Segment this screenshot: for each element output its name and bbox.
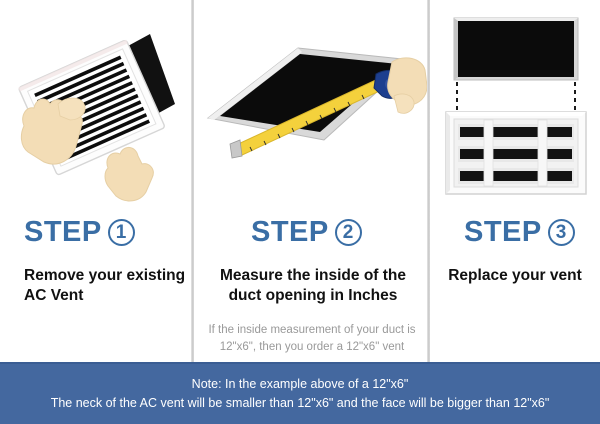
step-1-number-badge: 1	[108, 219, 135, 246]
step-3-illustration	[430, 0, 600, 215]
note-line-1: Note: In the example above of a 12"x6"	[192, 375, 409, 394]
step-2-illustration	[194, 0, 427, 215]
infographic-page: STEP 1 Remove your existing AC Vent	[0, 0, 600, 424]
step-panel-3: STEP 3 Replace your vent	[430, 0, 600, 362]
panel-divider-1	[191, 0, 194, 362]
step-2-number-badge: 2	[335, 219, 362, 246]
step-2-heading: STEP 2	[251, 218, 362, 247]
panel-divider-2	[427, 0, 430, 362]
step-1-caption: Remove your existing AC Vent	[24, 266, 189, 306]
step-1-word: STEP	[24, 218, 102, 247]
note-line-2: The neck of the AC vent will be smaller …	[51, 394, 550, 413]
step-3-caption: Replace your vent	[430, 266, 600, 286]
step-2-caption: Measure the inside of the duct opening i…	[202, 266, 424, 306]
step-1-illustration	[0, 0, 191, 215]
step-3-heading: STEP 3	[464, 218, 575, 247]
step-panel-1: STEP 1 Remove your existing AC Vent	[0, 0, 191, 362]
step-3-word: STEP	[464, 218, 542, 247]
step-1-heading: STEP 1	[24, 218, 135, 247]
step-2-subnote: If the inside measurement of your duct i…	[198, 322, 426, 355]
step-panel-2: STEP 2 Measure the inside of the duct op…	[194, 0, 427, 362]
note-banner: Note: In the example above of a 12"x6" T…	[0, 362, 600, 424]
step-2-word: STEP	[251, 218, 329, 247]
step-3-number-badge: 3	[548, 219, 575, 246]
